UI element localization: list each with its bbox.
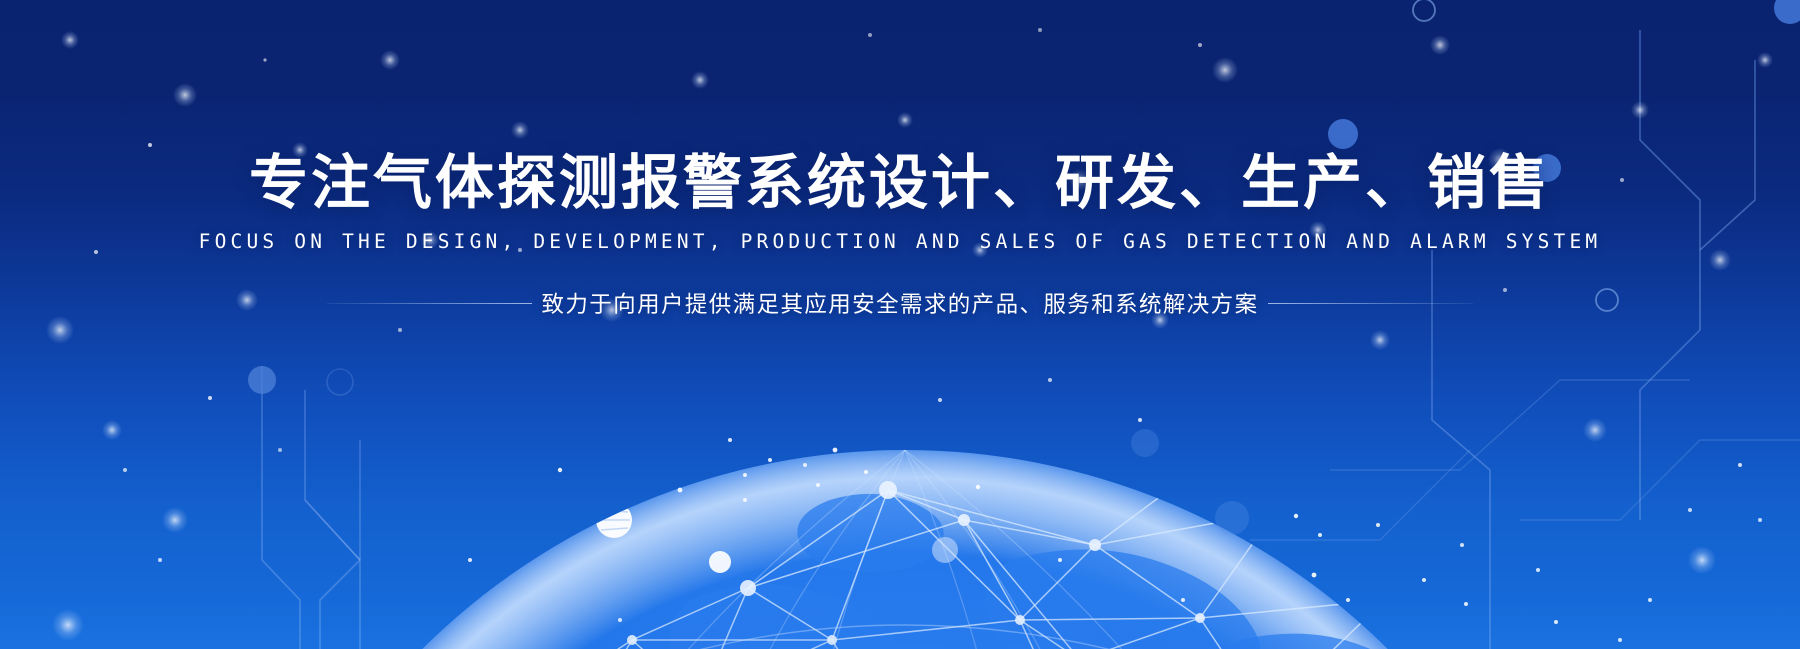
- banner-tagline: 致力于向用户提供满足其应用安全需求的产品、服务和系统解决方案: [532, 287, 1267, 319]
- hero-banner: 专注气体探测报警系统设计、研发、生产、销售 FOCUS ON THE DESIG…: [0, 0, 1800, 649]
- tagline-rule-left: [327, 303, 532, 304]
- tagline-rule-right: [1268, 303, 1473, 304]
- banner-content: 专注气体探测报警系统设计、研发、生产、销售 FOCUS ON THE DESIG…: [0, 150, 1800, 319]
- soft-bokeh: [46, 31, 1773, 641]
- floating-nodes: [1131, 429, 1249, 535]
- circuit-left-nodes: [248, 366, 276, 394]
- network-mesh: [330, 470, 1605, 649]
- circuit-far-right-group: [1250, 380, 1800, 540]
- circuit-decoration-layer: [0, 0, 1800, 649]
- star-particles: [0, 0, 1800, 649]
- circuit-left-group: [262, 366, 470, 649]
- mesh-nodes: [463, 464, 1496, 649]
- banner-subtitle-en: FOCUS ON THE DESIGN, DEVELOPMENT, PRODUC…: [0, 230, 1800, 253]
- circuit-left-ring: [327, 369, 353, 395]
- tagline-row: 致力于向用户提供满足其应用安全需求的产品、服务和系统解决方案: [0, 287, 1800, 319]
- pin-stars: [94, 28, 1762, 642]
- network-globe: [0, 0, 1800, 649]
- circuit-right-group: [1343, 0, 1755, 649]
- longitude-lines: [435, 450, 1375, 649]
- highlight-nodes: [596, 421, 1428, 594]
- latitude-lines: [200, 625, 1609, 649]
- continents: [511, 494, 1414, 649]
- page-title: 专注气体探测报警系统设计、研发、生产、销售: [0, 150, 1800, 216]
